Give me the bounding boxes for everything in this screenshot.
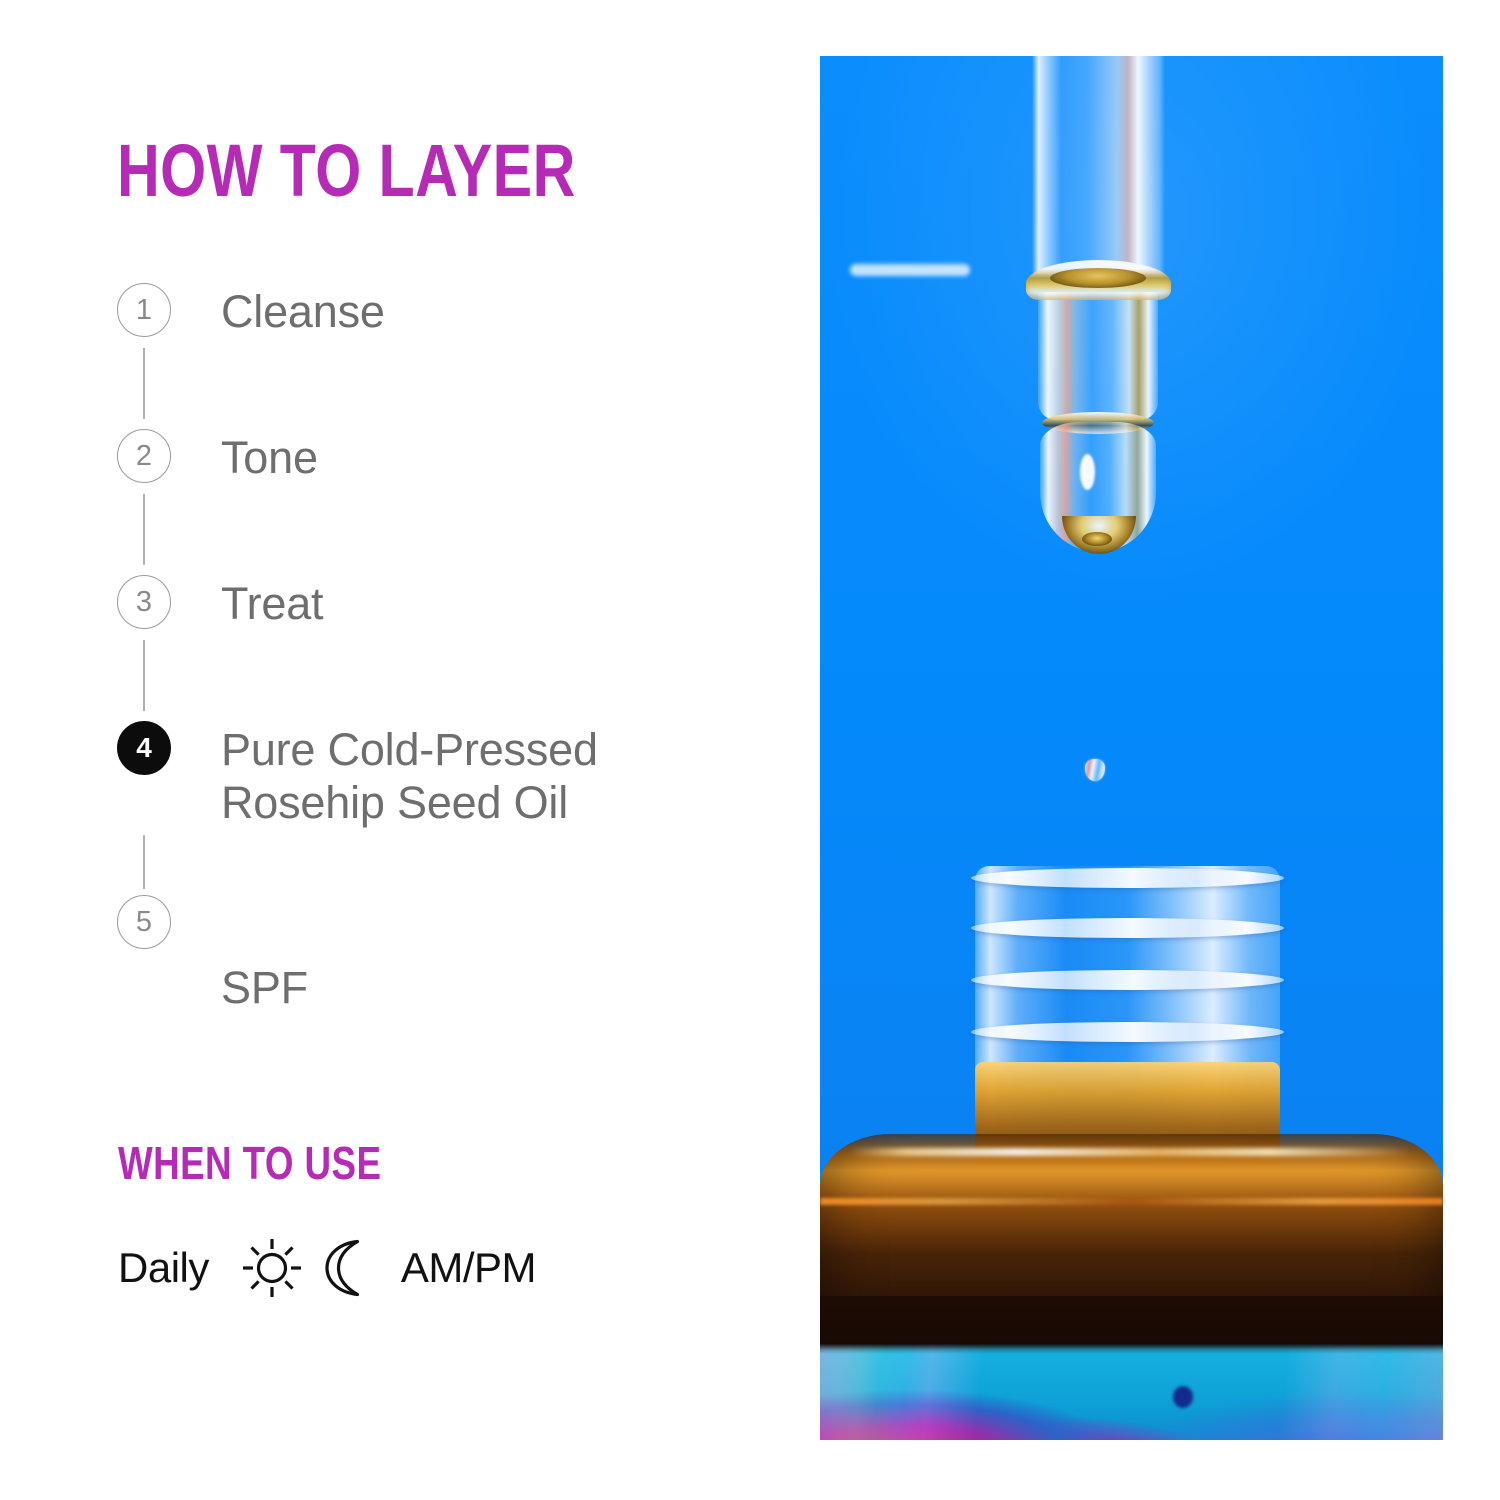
bottle-shoulder-band xyxy=(820,1198,1443,1205)
bottle-thread-1 xyxy=(971,868,1284,888)
step-marker-4: 4 xyxy=(117,721,221,775)
pipette-neck xyxy=(1038,292,1158,420)
step-connector-2-3 xyxy=(117,484,737,575)
step-label-4: Pure Cold-Pressed Rosehip Seed Oil xyxy=(221,721,737,829)
step-number-badge-4: 4 xyxy=(117,721,171,775)
pipette-highlight xyxy=(1080,454,1095,490)
step-item-4-active: 4 Pure Cold-Pressed Rosehip Seed Oil xyxy=(117,721,737,829)
moon-icon xyxy=(317,1237,371,1299)
iridescent-dark-spot xyxy=(1173,1386,1193,1408)
step-marker-1: 1 xyxy=(117,283,221,337)
iridescent-sheen-layer xyxy=(820,1344,1443,1440)
usage-frequency-label: Daily xyxy=(118,1247,209,1289)
how-to-layer-heading: HOW TO LAYER xyxy=(117,134,576,208)
step-label-1: Cleanse xyxy=(221,283,385,338)
step-label-5: SPF xyxy=(221,895,308,1014)
step-marker-3: 3 xyxy=(117,575,221,629)
step-connector-3-4 xyxy=(117,630,737,721)
step-item-1: 1 Cleanse xyxy=(117,283,737,338)
step-label-2: Tone xyxy=(221,429,318,484)
info-panel: HOW TO LAYER 1 Cleanse 2 Tone 3 T xyxy=(0,0,800,1500)
iridescent-shadow-edge xyxy=(820,1344,1443,1354)
usage-frequency-row: Daily xyxy=(118,1237,536,1299)
amber-bottle-neck xyxy=(975,866,1280,1166)
step-marker-2: 2 xyxy=(117,429,221,483)
bottle-thread-4 xyxy=(971,1022,1284,1042)
step-marker-5: 5 xyxy=(117,895,221,949)
bottle-thread-2 xyxy=(971,918,1284,938)
bottle-shoulder-glint xyxy=(850,1148,1410,1156)
sun-icon xyxy=(241,1237,303,1299)
bottle-neck-highlight xyxy=(850,264,970,276)
usage-time-label: AM/PM xyxy=(401,1247,536,1289)
iridescent-oil-slick xyxy=(820,1344,1443,1440)
layering-steps-list: 1 Cleanse 2 Tone 3 Treat xyxy=(117,283,737,1015)
glass-pipette xyxy=(1026,56,1171,554)
step-connector-1-2 xyxy=(117,338,737,429)
step-number-badge-2: 2 xyxy=(117,429,171,483)
pipette-tip-oil-drop xyxy=(1082,532,1112,546)
step-item-2: 2 Tone xyxy=(117,429,737,484)
step-label-3: Treat xyxy=(221,575,323,630)
step-number-badge-3: 3 xyxy=(117,575,171,629)
product-photo xyxy=(820,56,1443,1440)
step-item-3: 3 Treat xyxy=(117,575,737,630)
step-item-5: 5 SPF xyxy=(117,895,737,1014)
step-number-badge-5: 5 xyxy=(117,895,171,949)
step-number-badge-1: 1 xyxy=(117,283,171,337)
step-connector-4-5 xyxy=(117,829,737,895)
pipette-tube xyxy=(1032,56,1165,274)
when-to-use-heading: WHEN TO USE xyxy=(118,1140,381,1186)
bottle-thread-3 xyxy=(971,970,1284,990)
pipette-collar-oil xyxy=(1050,268,1146,288)
